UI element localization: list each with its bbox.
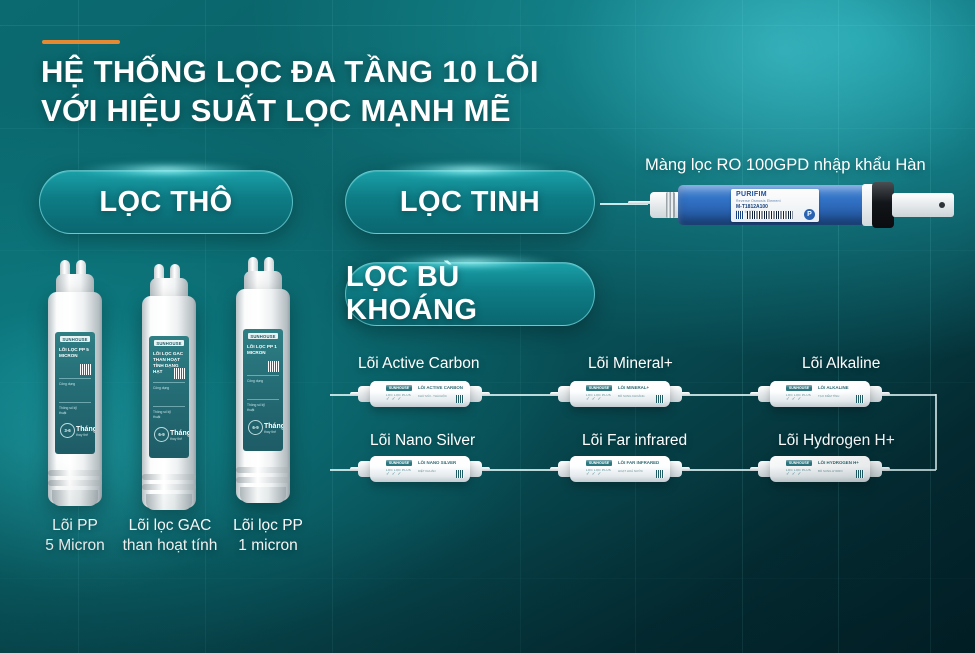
cartridge-qr-icon: [268, 361, 279, 372]
inline-name: LÕI ALKALINE: [818, 385, 849, 391]
caption-line-1: Lõi lọc PP: [208, 516, 328, 536]
coarse-filter-caption-2: Lõi lọc PP 1 micron: [208, 516, 328, 557]
inline-qr-icon: [656, 470, 664, 478]
cartridge-label: SUNHOUSE LÕI LỌC PP 1 MICRON Công dụng T…: [243, 329, 283, 451]
inline-name: LÕI FAR INFRARED: [618, 460, 659, 466]
inline-feature-icons: ✓✓✓: [586, 471, 603, 477]
inline-qr-icon: [456, 470, 464, 478]
inline-body: SUNHOUSE LỌC LỌC PLUS LÕI ACTIVE CARBON …: [370, 381, 470, 407]
cartridge-month-sub: thay thế: [76, 433, 95, 437]
ro-brand-sub: Reverse Osmosis Element: [736, 199, 781, 203]
inline-brand: SUNHOUSE: [786, 460, 812, 466]
cartridge-brand: SUNHOUSE: [154, 340, 184, 346]
inline-desc: BỔ SUNG HYDRO: [818, 470, 843, 474]
ro-barcode-icon: [747, 211, 793, 219]
inline-name: LÕI MINERAL+: [618, 385, 649, 391]
inline-brand: SUNHOUSE: [386, 460, 412, 466]
ro-membrane-image: PURIFIM Reverse Osmosis Element M-T1812A…: [626, 181, 956, 229]
caption-line-2: 1 micron: [208, 536, 328, 556]
infographic-canvas: HỆ THỐNG LỌC ĐA TẦNG 10 LÕI VỚI HIỆU SUẤ…: [0, 0, 975, 653]
inline-name: LÕI ACTIVE CARBON: [418, 385, 463, 391]
inline-feature-icons: ✓✓✓: [786, 471, 803, 477]
inline-filter-0: SUNHOUSE LỌC LỌC PLUS LÕI ACTIVE CARBON …: [358, 381, 482, 407]
inline-desc: DIỆT KHUẨN: [418, 470, 435, 474]
cartridge-ring: [236, 477, 290, 483]
inline-filter-caption-0: Lõi Active Carbon: [358, 355, 480, 373]
inline-filter-caption-4: Lõi Far infrared: [582, 432, 687, 450]
cartridge-month: Tháng thay thế: [264, 423, 283, 434]
inline-filter-caption-3: Lõi Nano Silver: [370, 432, 475, 450]
cartridge-ring: [48, 470, 102, 476]
ro-tail: [892, 193, 954, 217]
inline-filter-caption-5: Lõi Hydrogen H+: [778, 432, 895, 450]
cartridge-month-sub: thay thế: [264, 430, 283, 434]
ro-qr-icon: [736, 211, 744, 219]
page-title: HỆ THỐNG LỌC ĐA TẦNG 10 LÕI VỚI HIỆU SUẤ…: [41, 52, 681, 130]
stage-label-coarse-text: LỌC THÔ: [99, 186, 232, 219]
cartridge-lifetime-badge: 6-9: [154, 427, 169, 442]
cartridge-label-title: LÕI LỌC PP 1 MICRON: [247, 344, 279, 356]
title-line-1: HỆ THỐNG LỌC ĐA TẦNG 10 LÕI: [41, 52, 681, 91]
stage-label-mineral-text: LỌC BÙ KHOÁNG: [346, 261, 594, 327]
ro-label: PURIFIM Reverse Osmosis Element M-T1812A…: [731, 189, 819, 222]
cartridge-brand: SUNHOUSE: [60, 336, 90, 342]
inline-filter-3: SUNHOUSE LỌC LỌC PLUS LÕI NANO SILVER DI…: [358, 456, 482, 482]
cartridge-note-1: Công dụng: [59, 382, 81, 387]
inline-feature-icons: ✓✓✓: [786, 396, 803, 402]
inline-feature-icons: ✓✓✓: [386, 396, 403, 402]
title-line-2: VỚI HIỆU SUẤT LỌC MẠNH MẼ: [41, 91, 681, 130]
cartridge-month-text: Tháng: [76, 426, 95, 433]
cartridge-note-1: Công dụng: [247, 379, 269, 384]
inline-filter-caption-1: Lõi Mineral+: [588, 355, 673, 373]
cartridge-month-text: Tháng: [264, 423, 283, 430]
cartridge-label: SUNHOUSE LÕI LỌC PP 5 MICRON Công dụng T…: [55, 332, 95, 454]
cartridge-month-sub: thay thế: [170, 437, 189, 441]
inline-body: SUNHOUSE LỌC LỌC PLUS LÕI FAR INFRARED H…: [570, 456, 670, 482]
ro-brand: PURIFIM: [736, 191, 767, 198]
coarse-filter-1: SUNHOUSE LÕI LỌC GAC THAN HOẠT TÍNH DẠNG…: [138, 262, 200, 512]
cartridge-lifetime-badge: 3-6: [60, 423, 75, 438]
corner-glow-top-right: [475, 0, 975, 280]
inline-filter-4: SUNHOUSE LỌC LỌC PLUS LÕI FAR INFRARED H…: [558, 456, 682, 482]
stage-label-fine-text: LỌC TINH: [400, 186, 540, 219]
ro-seal-rings: [666, 192, 675, 218]
inline-body: SUNHOUSE LỌC LỌC PLUS LÕI ALKALINE TẠO K…: [770, 381, 870, 407]
cartridge-month: Tháng thay thế: [170, 430, 189, 441]
cartridge-label-title: LÕI LỌC PP 5 MICRON: [59, 347, 91, 359]
accent-bar: [42, 40, 120, 44]
inline-brand: SUNHOUSE: [586, 385, 612, 391]
inline-qr-icon: [856, 395, 864, 403]
inline-filter-5: SUNHOUSE LỌC LỌC PLUS LÕI HYDROGEN H+ BỔ…: [758, 456, 882, 482]
inline-brand: SUNHOUSE: [586, 460, 612, 466]
inline-qr-icon: [456, 395, 464, 403]
inline-filter-caption-2: Lõi Alkaline: [802, 355, 880, 373]
cartridge-note-2: Thông số kỹ thuật: [153, 410, 175, 420]
inline-name: LÕI HYDROGEN H+: [818, 460, 859, 466]
cartridge-ring: [48, 480, 102, 486]
cartridge-month-text: Tháng: [170, 430, 189, 437]
stage-label-fine: LỌC TINH: [345, 170, 595, 234]
ro-black-band: [872, 182, 894, 228]
cartridge-note-2: Thông số kỹ thuật: [247, 403, 269, 413]
inline-feature-icons: ✓✓✓: [386, 471, 403, 477]
ro-membrane-caption: Màng lọc RO 100GPD nhập khẩu Hàn: [645, 156, 926, 175]
cartridge-foot: [240, 487, 286, 503]
cartridge-foot: [52, 490, 98, 506]
inline-desc: KHỬ MÙI - THẢI ĐỘC: [418, 395, 447, 399]
cartridge-ring: [142, 474, 196, 480]
inline-name: LÕI NANO SILVER: [418, 460, 456, 466]
cartridge-note-2: Thông số kỹ thuật: [59, 406, 81, 416]
inline-qr-icon: [856, 470, 864, 478]
cartridge-foot: [146, 494, 192, 510]
cartridge-ring: [236, 467, 290, 473]
inline-brand: SUNHOUSE: [786, 385, 812, 391]
stage-label-mineral: LỌC BÙ KHOÁNG: [345, 262, 595, 326]
cartridge-month: Tháng thay thế: [76, 426, 95, 437]
inline-body: SUNHOUSE LỌC LỌC PLUS LÕI HYDROGEN H+ BỔ…: [770, 456, 870, 482]
inline-filter-2: SUNHOUSE LỌC LỌC PLUS LÕI ALKALINE TẠO K…: [758, 381, 882, 407]
inline-qr-icon: [656, 395, 664, 403]
cartridge-qr-icon: [174, 368, 185, 379]
ro-cap-left: [650, 192, 680, 218]
cartridge-brand: SUNHOUSE: [248, 333, 278, 339]
ro-seal-icon: P: [804, 209, 815, 220]
cartridge-note-1: Công dụng: [153, 386, 175, 391]
stage-label-coarse: LỌC THÔ: [39, 170, 293, 234]
cartridge-label: SUNHOUSE LÕI LỌC GAC THAN HOẠT TÍNH DẠNG…: [149, 336, 189, 458]
inline-body: SUNHOUSE LỌC LỌC PLUS LÕI NANO SILVER DI…: [370, 456, 470, 482]
inline-desc: BỔ SUNG KHOÁNG: [618, 395, 645, 399]
cartridge-ring: [142, 484, 196, 490]
inline-feature-icons: ✓✓✓: [586, 396, 603, 402]
inline-desc: HOẠT HOÁ NƯỚC: [618, 470, 643, 474]
inline-body: SUNHOUSE LỌC LỌC PLUS LÕI MINERAL+ BỔ SU…: [570, 381, 670, 407]
inline-desc: TẠO KIỀM TÍNH: [818, 395, 839, 399]
cartridge-qr-icon: [80, 364, 91, 375]
coarse-filter-2: SUNHOUSE LÕI LỌC PP 1 MICRON Công dụng T…: [232, 255, 294, 505]
chain-segment-right-turn: [935, 394, 937, 470]
inline-brand: SUNHOUSE: [386, 385, 412, 391]
cartridge-lifetime-badge: 6-9: [248, 420, 263, 435]
coarse-filter-0: SUNHOUSE LÕI LỌC PP 5 MICRON Công dụng T…: [44, 258, 106, 508]
inline-filter-1: SUNHOUSE LỌC LỌC PLUS LÕI MINERAL+ BỔ SU…: [558, 381, 682, 407]
